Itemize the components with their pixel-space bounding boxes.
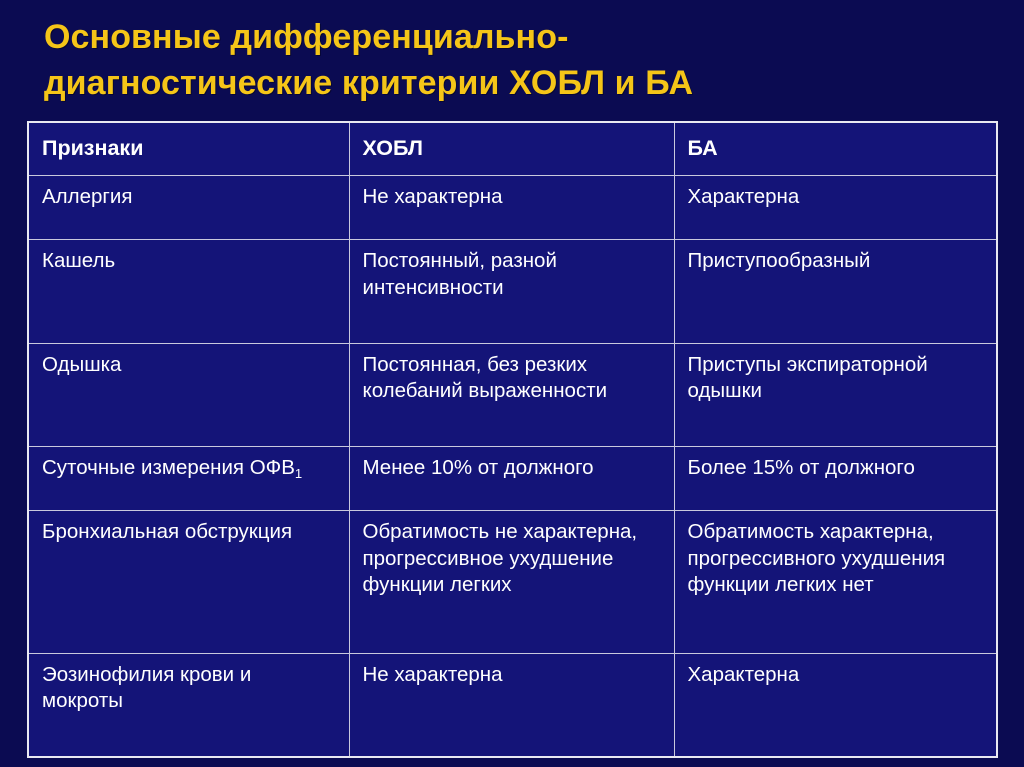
cell-copd: Постоянный, разной интенсивности (349, 240, 674, 343)
table-body: Аллергия Не характерна Характерна Кашель… (29, 175, 996, 756)
cell-asthma: Более 15% от должного (674, 446, 996, 510)
cell-asthma: Обратимость характерна, прогрессивного у… (674, 511, 996, 654)
cell-sign: Суточные измерения ОФВ1 (29, 446, 349, 510)
cell-sign: Аллергия (29, 175, 349, 239)
cell-asthma: Характерна (674, 175, 996, 239)
cell-sign-subscript: 1 (295, 466, 302, 481)
cell-sign: Эозинофилия крови и мокроты (29, 653, 349, 756)
cell-asthma: Приступы экспираторной одышки (674, 343, 996, 446)
table-row: Суточные измерения ОФВ1 Менее 10% от дол… (29, 446, 996, 510)
cell-copd: Не характерна (349, 653, 674, 756)
cell-copd: Менее 10% от должного (349, 446, 674, 510)
cell-asthma: Приступообразный (674, 240, 996, 343)
table-row: Кашель Постоянный, разной интенсивности … (29, 240, 996, 343)
column-header-copd: ХОБЛ (349, 123, 674, 175)
table-row: Бронхиальная обструкция Обратимость не х… (29, 511, 996, 654)
cell-asthma: Характерна (674, 653, 996, 756)
comparison-table-container: Признаки ХОБЛ БА Аллергия Не характерна … (27, 121, 998, 758)
comparison-table: Признаки ХОБЛ БА Аллергия Не характерна … (29, 123, 996, 756)
page-title: Основные дифференциально- диагностически… (44, 14, 984, 106)
cell-sign: Кашель (29, 240, 349, 343)
cell-sign: Бронхиальная обструкция (29, 511, 349, 654)
cell-copd: Обратимость не характерна, прогрессивное… (349, 511, 674, 654)
table-header: Признаки ХОБЛ БА (29, 123, 996, 175)
column-header-signs: Признаки (29, 123, 349, 175)
column-header-asthma: БА (674, 123, 996, 175)
table-row: Одышка Постоянная, без резких колебаний … (29, 343, 996, 446)
cell-sign-text: Суточные измерения ОФВ (42, 456, 295, 479)
cell-copd: Постоянная, без резких колебаний выражен… (349, 343, 674, 446)
slide-root: Основные дифференциально- диагностически… (0, 0, 1024, 767)
table-row: Эозинофилия крови и мокроты Не характерн… (29, 653, 996, 756)
cell-copd: Не характерна (349, 175, 674, 239)
table-row: Аллергия Не характерна Характерна (29, 175, 996, 239)
table-header-row: Признаки ХОБЛ БА (29, 123, 996, 175)
cell-sign: Одышка (29, 343, 349, 446)
